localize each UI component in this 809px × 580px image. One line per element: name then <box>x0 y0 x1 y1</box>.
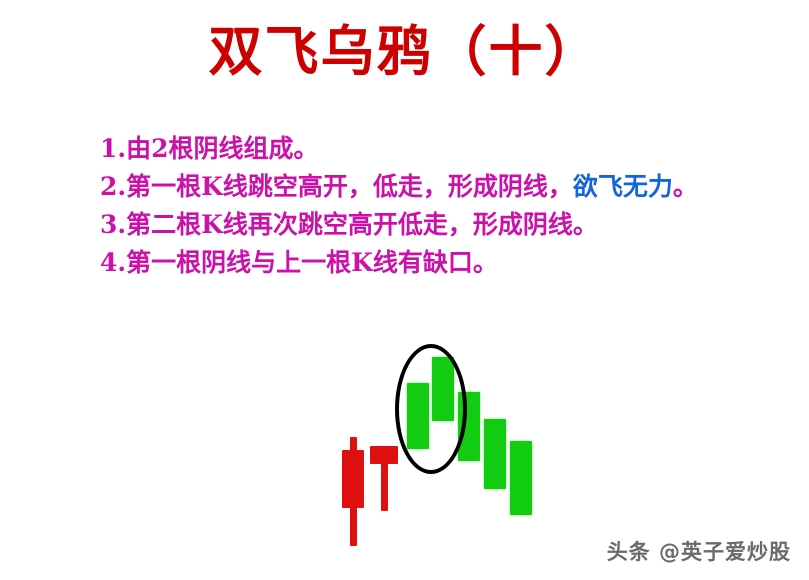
candle-7-wick <box>518 441 525 515</box>
candle-1-body <box>342 450 364 508</box>
bullet-item-2-highlight: 欲飞无力 <box>573 172 673 201</box>
candle-1-wick <box>350 437 357 546</box>
watermark: 头条 @英子爱炒股 <box>607 536 791 566</box>
candle-4-wick <box>440 357 447 421</box>
candlestick-chart <box>0 0 809 580</box>
candle-7-body <box>510 441 532 515</box>
candle-6-body <box>484 419 506 489</box>
candle-7-bullish <box>510 441 532 515</box>
candle-6-wick <box>492 419 499 489</box>
bullet-item-2-text-before: 2.第一根K线跳空高开，低走，形成阴线， <box>100 172 573 201</box>
bullet-list: 1.由2根阴线组成。 2.第一根K线跳空高开，低走，形成阴线，欲飞无力。 3.第… <box>100 130 800 282</box>
candle-5-body <box>458 392 480 461</box>
candle-2-bearish <box>370 446 398 511</box>
page-title: 双飞乌鸦（十） <box>0 20 809 82</box>
candle-3-wick <box>415 383 422 449</box>
pattern-highlight-ellipse <box>395 344 467 474</box>
candle-4-body <box>432 357 454 421</box>
candle-3-body <box>407 383 429 449</box>
candle-6-bullish <box>484 419 506 489</box>
candle-4-bullish <box>432 357 454 421</box>
candle-5-wick <box>466 392 473 461</box>
candle-3-bullish <box>407 383 429 449</box>
candle-2-wick <box>381 446 388 511</box>
candle-5-bullish <box>458 392 480 461</box>
bullet-item-2: 2.第一根K线跳空高开，低走，形成阴线，欲飞无力。 <box>100 168 800 206</box>
bullet-item-2-text-after: 。 <box>673 172 698 201</box>
candle-1-bearish <box>342 437 364 546</box>
candle-2-body <box>370 446 398 464</box>
bullet-item-3: 3.第二根K线再次跳空高开低走，形成阴线。 <box>100 206 800 244</box>
bullet-item-4: 4.第一根阴线与上一根K线有缺口。 <box>100 244 800 282</box>
bullet-item-1: 1.由2根阴线组成。 <box>100 130 800 168</box>
